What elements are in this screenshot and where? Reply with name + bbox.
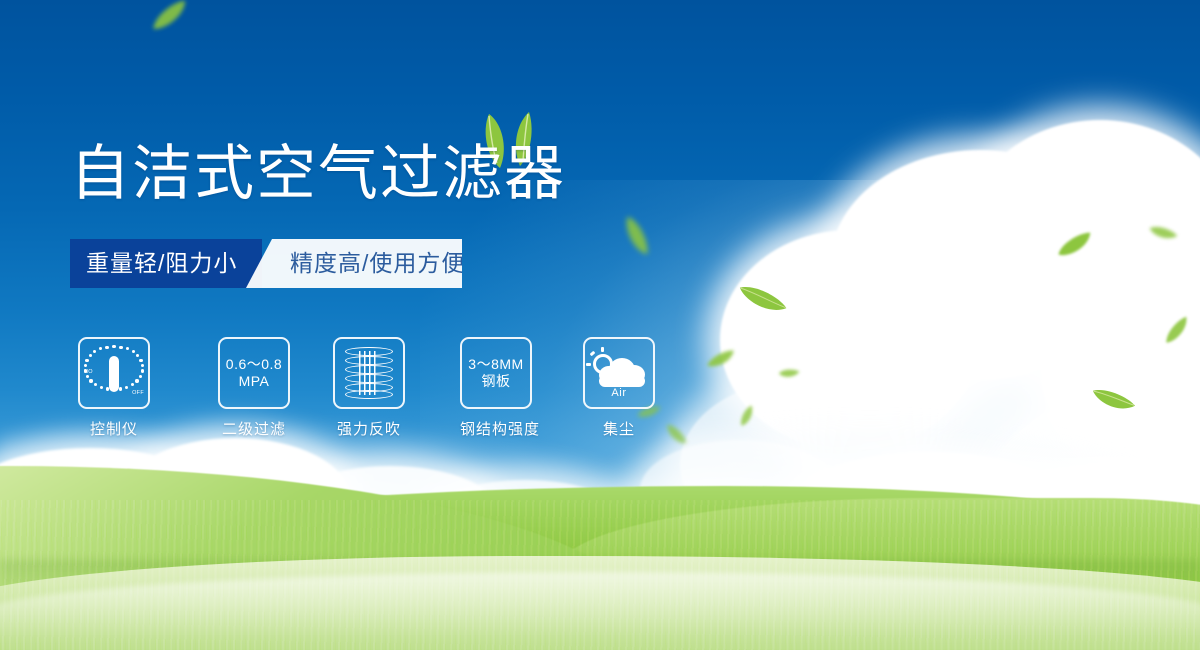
feature-label: 钢结构强度 [460, 418, 532, 439]
feature-icon-box: 3～8MM 钢板 [460, 337, 532, 409]
feature-icon-box: Air [583, 337, 655, 409]
feature-item-controller[interactable]: NO OFF 控制仪 [78, 337, 150, 439]
feature-icon-box [333, 337, 405, 409]
coil-filter-icon [345, 347, 393, 399]
gauge-label-off: OFF [132, 390, 144, 396]
feature-item-dust-collection[interactable]: Air 集尘 [583, 337, 655, 439]
feature-icon-box: 0.6～0.8 MPA [218, 337, 290, 409]
gauge-icon: NO OFF [85, 345, 143, 401]
feature-label: 二级过滤 [218, 418, 290, 439]
feature-item-filtration[interactable]: 0.6～0.8 MPA 二级过滤 [218, 337, 290, 439]
page-title: 自洁式空气过滤器 [70, 144, 566, 204]
gauge-label-no: NO [84, 369, 93, 375]
feature-icon-text: 0.6～0.8 MPA [226, 356, 282, 390]
feature-icon-text: 3～8MM 钢板 [468, 356, 523, 390]
banner-content: 自洁式空气过滤器 重量轻/阻力小 精度高/使用方便 [0, 0, 1200, 650]
subtitle-right-text: 精度高/使用方便 [290, 239, 465, 288]
air-label: Air [591, 387, 647, 399]
subtitle-bar: 重量轻/阻力小 精度高/使用方便 [70, 239, 462, 288]
subtitle-right-panel: 精度高/使用方便 [246, 239, 462, 288]
subtitle-left-panel: 重量轻/阻力小 [70, 239, 262, 288]
feature-label: 集尘 [583, 418, 655, 439]
feature-item-backblow[interactable]: 强力反吹 [333, 337, 405, 439]
feature-item-steel-strength[interactable]: 3～8MM 钢板 钢结构强度 [460, 337, 532, 439]
feature-label: 强力反吹 [333, 418, 405, 439]
feature-icon-box: NO OFF [78, 337, 150, 409]
gauge-needle [109, 356, 119, 392]
cloud-air-icon: Air [591, 350, 647, 396]
feature-label: 控制仪 [78, 418, 150, 439]
subtitle-left-text: 重量轻/阻力小 [86, 239, 237, 288]
product-banner: 自洁式空气过滤器 重量轻/阻力小 精度高/使用方便 [0, 0, 1200, 650]
